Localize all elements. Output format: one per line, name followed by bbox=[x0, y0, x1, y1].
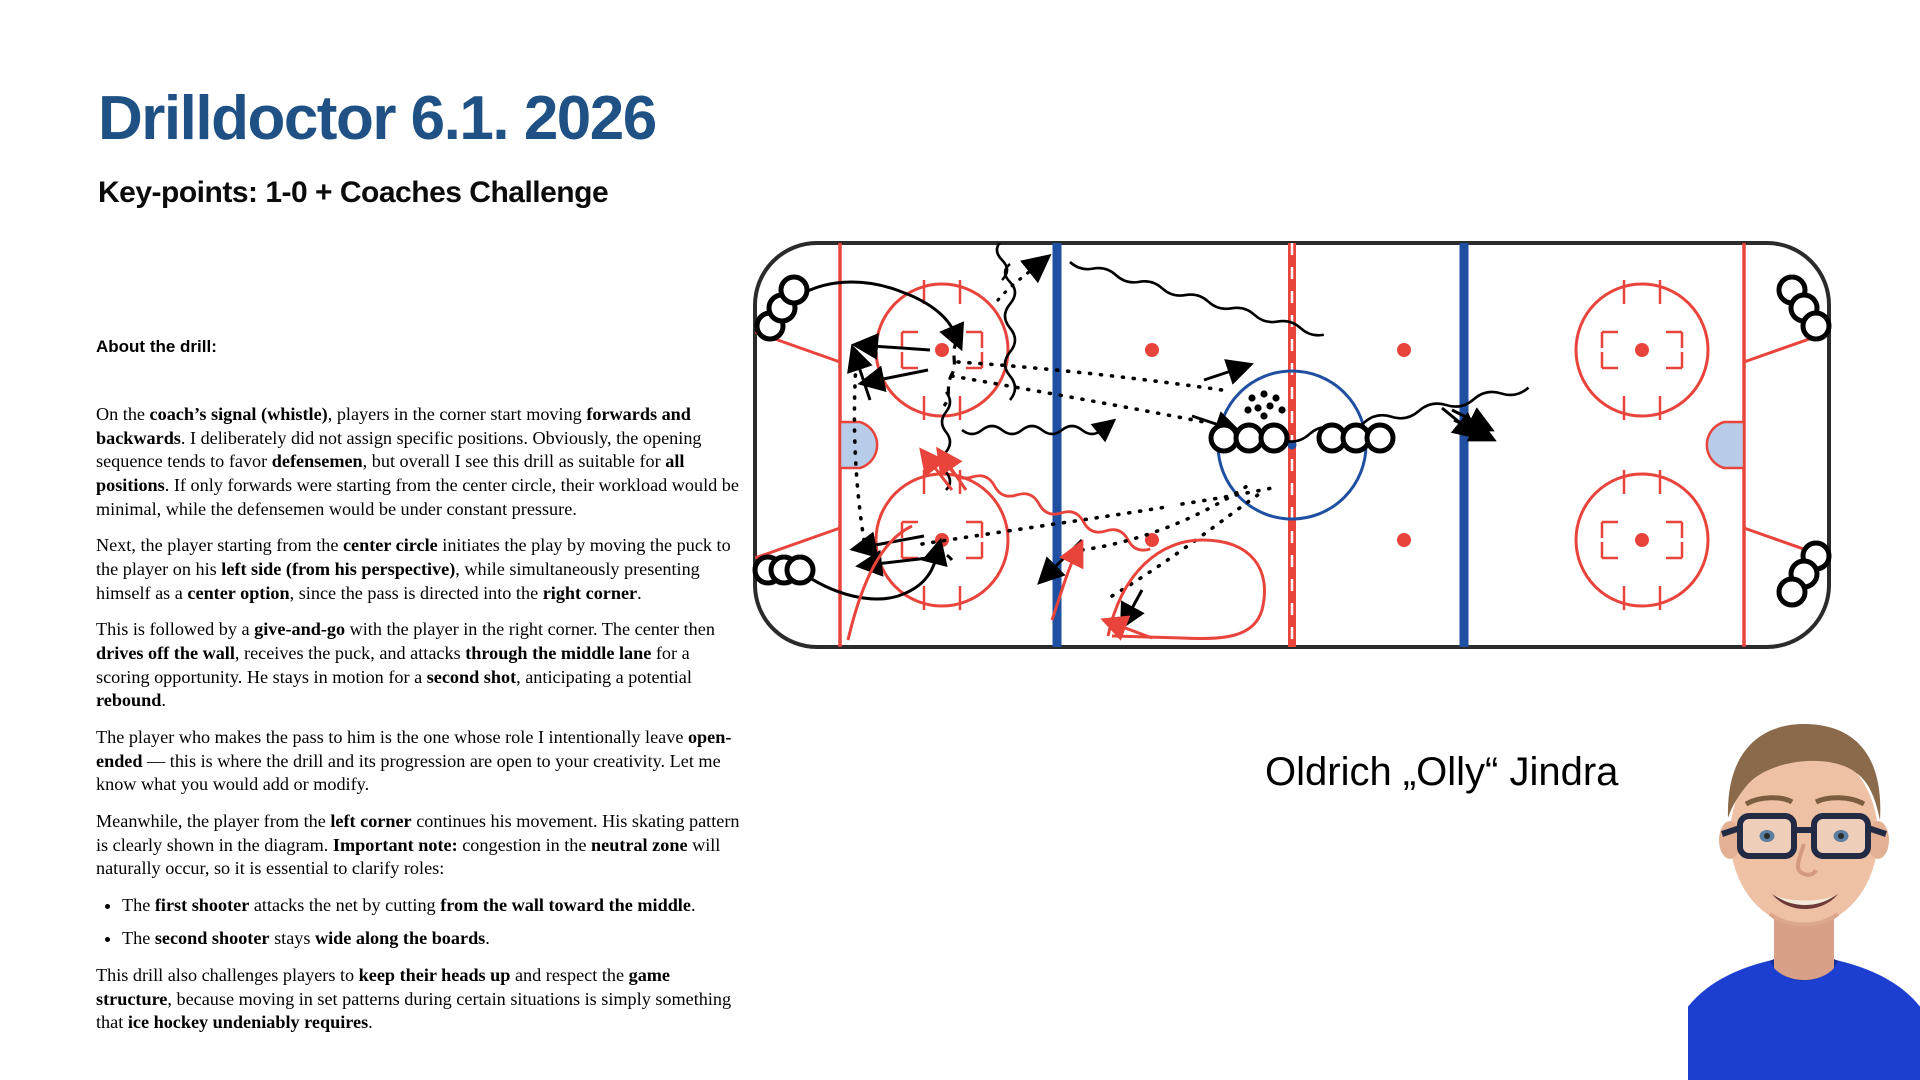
author-name: Oldrich „Olly“ Jindra bbox=[1265, 750, 1618, 795]
paragraph-p4: The player who makes the pass to him is … bbox=[96, 726, 746, 797]
player-stack-center-right bbox=[1319, 425, 1393, 451]
faceoff-dot-br bbox=[1635, 533, 1649, 547]
faceoff-dot-tr bbox=[1635, 343, 1649, 357]
paragraph-p6: This drill also challenges players to ke… bbox=[96, 964, 746, 1035]
nz-dot-tr bbox=[1397, 343, 1411, 357]
faceoff-dot-tl bbox=[935, 343, 949, 357]
roles-list: The first shooter attacks the net by cut… bbox=[96, 894, 746, 951]
page-subtitle: Key-points: 1-0 + Coaches Challenge bbox=[98, 178, 608, 208]
rink-diagram bbox=[752, 240, 1832, 650]
page-title: Drilldoctor 6.1. 2026 bbox=[98, 88, 656, 150]
list-item: The second shooter stays wide along the … bbox=[122, 927, 746, 951]
paragraph-p5: Meanwhile, the player from the left corn… bbox=[96, 810, 746, 881]
paragraph-p2: Next, the player starting from the cente… bbox=[96, 534, 746, 605]
slide-page: Drilldoctor 6.1. 2026 Key-points: 1-0 + … bbox=[0, 0, 1920, 1080]
author-portrait bbox=[1688, 632, 1920, 1080]
goal-crease-left bbox=[840, 422, 877, 468]
player-stack-bottom-left bbox=[755, 557, 813, 583]
player-stack-center-left bbox=[1211, 425, 1287, 451]
nz-dot-tl bbox=[1145, 343, 1159, 357]
paragraph-p1: On the coach’s signal (whistle), players… bbox=[96, 403, 746, 521]
paragraph-p3: This is followed by a give-and-go with t… bbox=[96, 618, 746, 713]
drill-description: On the coach’s signal (whistle), players… bbox=[96, 403, 746, 1048]
about-heading: About the drill: bbox=[96, 337, 217, 357]
list-item: The first shooter attacks the net by cut… bbox=[122, 894, 746, 918]
nz-dot-br bbox=[1397, 533, 1411, 547]
goal-crease-right bbox=[1707, 422, 1744, 468]
